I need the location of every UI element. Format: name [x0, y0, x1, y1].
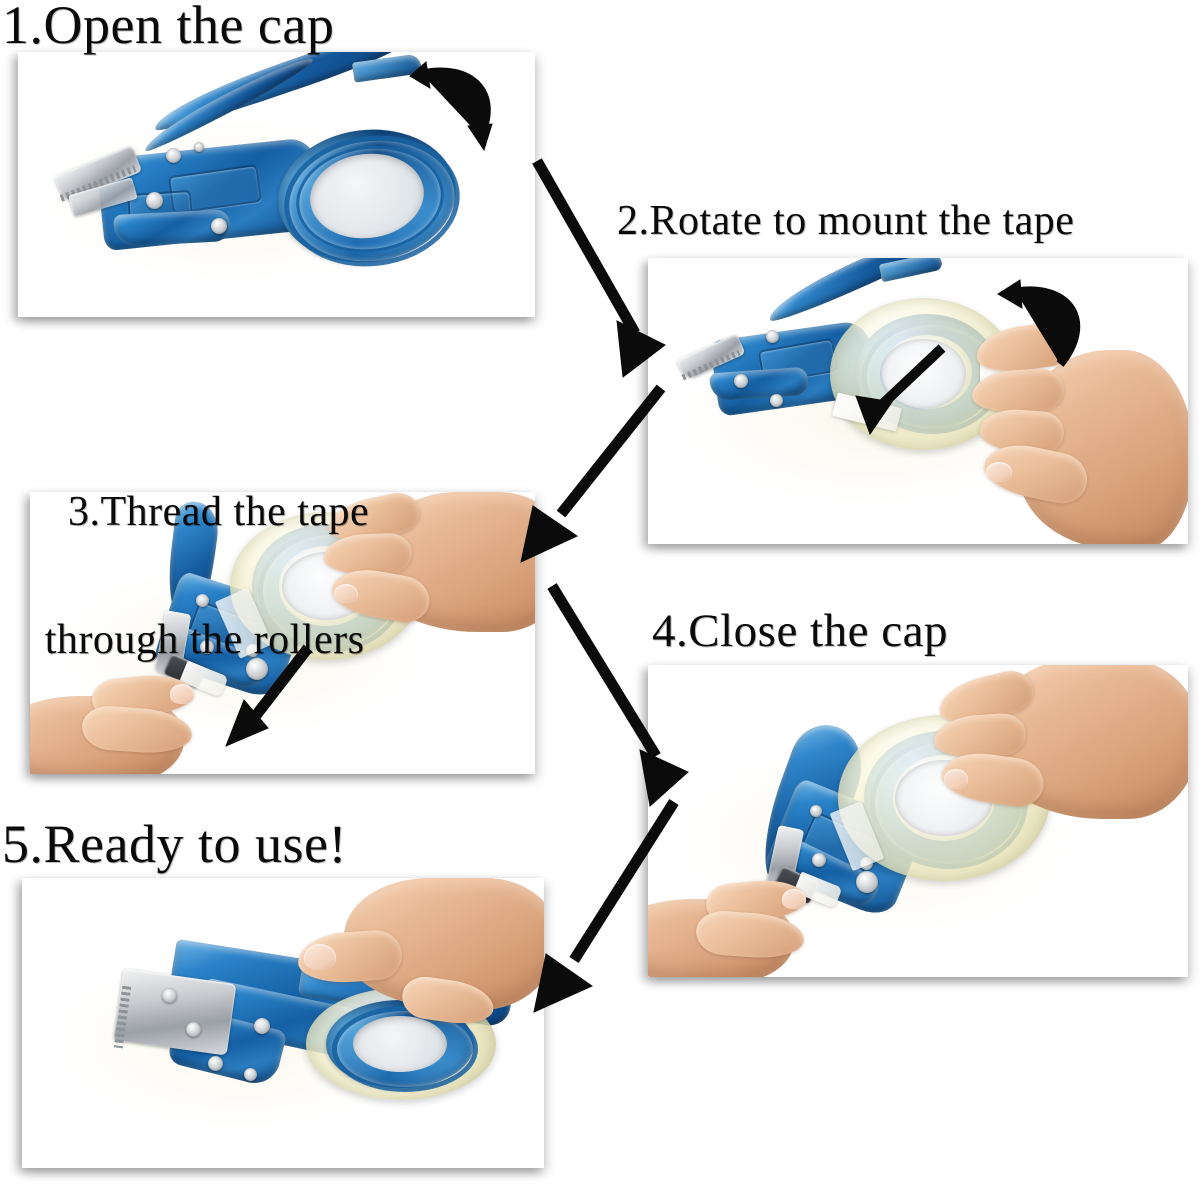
curved-rotation-arrow: [986, 278, 1096, 384]
screw-upper: [166, 148, 181, 163]
screw-upper: [766, 330, 779, 343]
step-4-caption: 4.Close the cap: [652, 608, 948, 656]
arrow-step4-to-step5: [508, 790, 718, 1050]
screw-blade-lower: [186, 1022, 201, 1037]
screw-body-mid: [254, 1018, 270, 1034]
step-3-caption-line-2: through the rollers: [40, 619, 369, 662]
straight-arrow-push-direction: [836, 338, 956, 448]
thumbnail: [304, 944, 336, 970]
step-3-caption: 3.Thread the tape through the rollers: [68, 405, 369, 748]
cutter-blade: [114, 968, 237, 1055]
step-5-caption: 5.Ready to use!: [2, 817, 347, 872]
screw-blade-upper: [162, 988, 177, 1003]
screw-upper: [810, 805, 822, 817]
screw-pivot: [146, 192, 163, 209]
step-1-caption: 1.Open the cap: [2, 0, 334, 53]
screw-body-tail: [244, 1068, 257, 1081]
screw-pivot: [812, 853, 826, 867]
fingernail: [986, 462, 1012, 482]
hand-right-closing-cap: [940, 665, 1188, 855]
fingernail: [944, 769, 968, 789]
screw-body-rear: [208, 1056, 223, 1071]
screw-lower: [770, 394, 783, 407]
step-2-photo: [648, 258, 1188, 544]
dispenser-cap-tip: [879, 258, 943, 282]
step-2-caption: 2.Rotate to mount the tape: [617, 200, 1074, 243]
screw-blade: [194, 142, 204, 152]
step-1-photo: [18, 52, 535, 317]
step-5-photo: [22, 878, 544, 1168]
infographic-canvas: 1.Open the cap 2.Rotate to mount the tap…: [0, 0, 1200, 1200]
step-3-caption-line-1: 3.Thread the tape: [68, 491, 369, 534]
screw-pivot: [734, 374, 748, 388]
curved-rotation-arrow: [396, 58, 506, 158]
arrow-step1-to-step2: [495, 145, 695, 395]
screw-lower: [211, 218, 227, 234]
fingernail: [782, 889, 806, 909]
